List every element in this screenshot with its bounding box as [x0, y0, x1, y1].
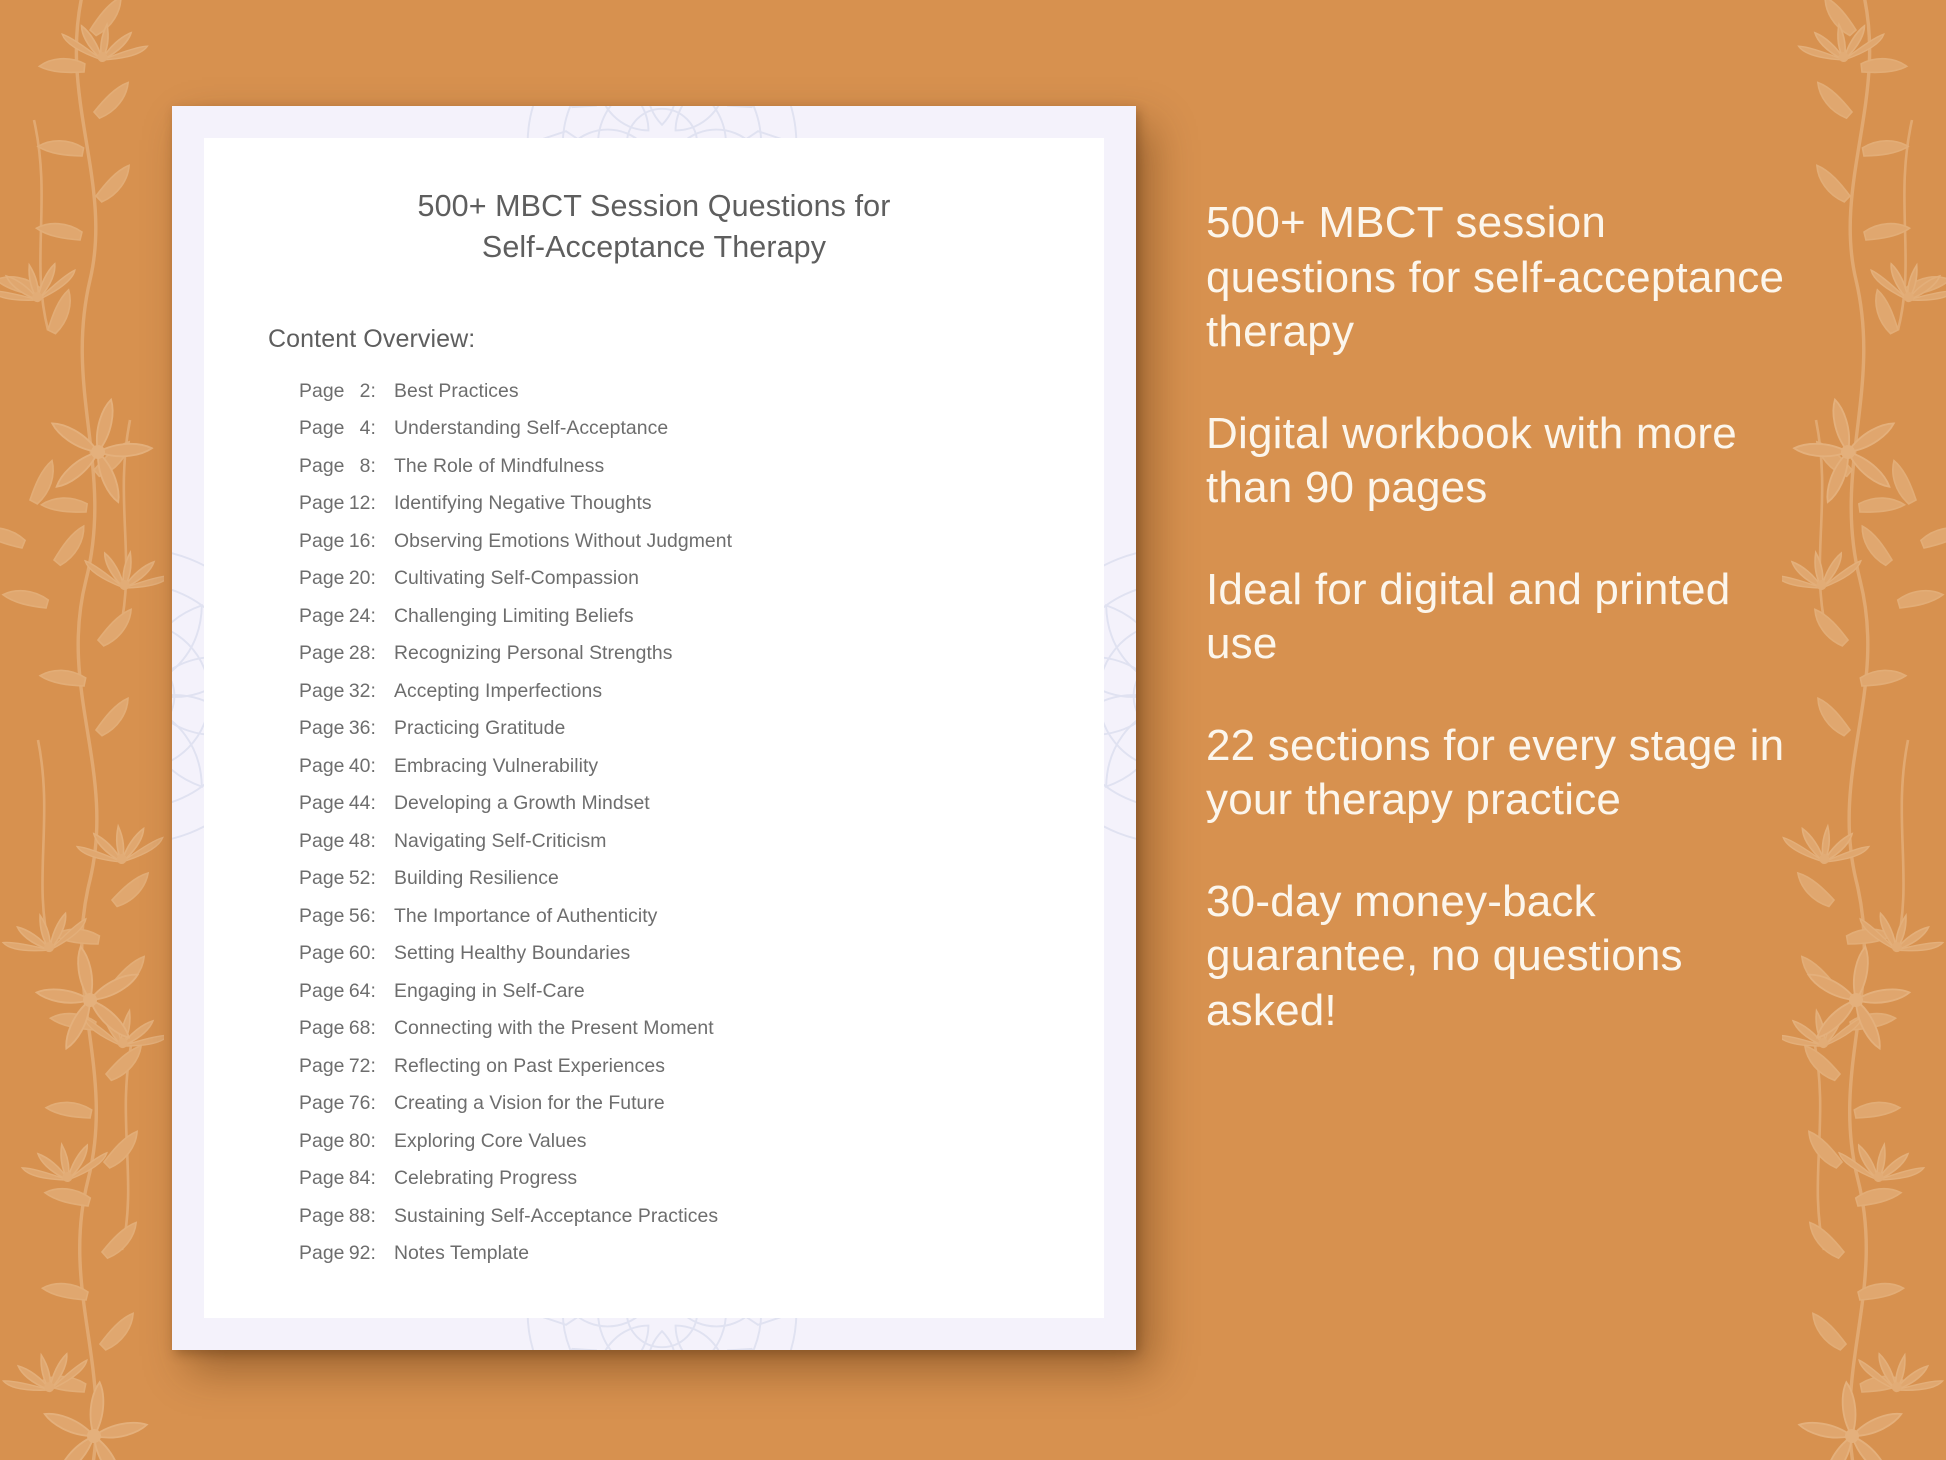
toc-colon: : [371, 717, 376, 739]
toc-entry-title: Understanding Self-Acceptance [394, 419, 668, 438]
toc-row[interactable]: Page24:Challenging Limiting Beliefs [299, 607, 1104, 626]
toc-colon: : [371, 905, 376, 927]
toc-page-number: 52 [345, 869, 371, 888]
toc-page-number: 2 [345, 382, 371, 401]
toc-page-number: 16 [345, 532, 371, 551]
toc-page-prefix: Page [299, 605, 345, 627]
toc-entry-title: Engaging in Self-Care [394, 982, 585, 1001]
toc-page-number: 64 [345, 982, 371, 1001]
toc-entry-title: Notes Template [394, 1244, 529, 1263]
toc-row[interactable]: Page60:Setting Healthy Boundaries [299, 944, 1104, 963]
toc-row[interactable]: Page28:Recognizing Personal Strengths [299, 644, 1104, 663]
toc-row[interactable]: Page72:Reflecting on Past Experiences [299, 1057, 1104, 1076]
toc-page-label: Page4: [299, 419, 383, 438]
marketing-block: 500+ MBCT session questions for self-acc… [1206, 196, 1786, 360]
toc-page-label: Page36: [299, 719, 383, 738]
toc-page-prefix: Page [299, 1205, 345, 1227]
toc-entry-title: The Importance of Authenticity [394, 907, 657, 926]
marketing-block: Ideal for digital and printed use [1206, 563, 1786, 672]
toc-page-label: Page32: [299, 682, 383, 701]
toc-page-label: Page60: [299, 944, 383, 963]
toc-page-prefix: Page [299, 567, 345, 589]
toc-page-number: 80 [345, 1132, 371, 1151]
toc-page-label: Page24: [299, 607, 383, 626]
toc-entry-title: Exploring Core Values [394, 1132, 587, 1151]
toc-page-number: 4 [345, 419, 371, 438]
toc-page-number: 44 [345, 794, 371, 813]
toc-page-prefix: Page [299, 1055, 345, 1077]
toc-colon: : [371, 792, 376, 814]
toc-row[interactable]: Page64:Engaging in Self-Care [299, 982, 1104, 1001]
toc-page-number: 32 [345, 682, 371, 701]
toc-page-prefix: Page [299, 1017, 345, 1039]
toc-row[interactable]: Page88:Sustaining Self-Acceptance Practi… [299, 1207, 1104, 1226]
toc-colon: : [371, 530, 376, 552]
toc-page-label: Page52: [299, 869, 383, 888]
toc-page-prefix: Page [299, 867, 345, 889]
toc-page-number: 56 [345, 907, 371, 926]
toc-page-number: 68 [345, 1019, 371, 1038]
toc-page-prefix: Page [299, 1242, 345, 1264]
toc-page-number: 84 [345, 1169, 371, 1188]
toc-page-label: Page92: [299, 1244, 383, 1263]
toc-entry-title: Practicing Gratitude [394, 719, 565, 738]
toc-page-prefix: Page [299, 980, 345, 1002]
toc-page-prefix: Page [299, 492, 345, 514]
toc-colon: : [371, 605, 376, 627]
toc-entry-title: Embracing Vulnerability [394, 757, 598, 776]
toc-page-label: Page84: [299, 1169, 383, 1188]
toc-page-number: 76 [345, 1094, 371, 1113]
toc-entry-title: Celebrating Progress [394, 1169, 577, 1188]
toc-page-number: 36 [345, 719, 371, 738]
toc-colon: : [371, 380, 376, 402]
toc-row[interactable]: Page44:Developing a Growth Mindset [299, 794, 1104, 813]
marketing-block: 22 sections for every stage in your ther… [1206, 719, 1786, 828]
toc-entry-title: Creating a Vision for the Future [394, 1094, 665, 1113]
document-sheet: 500+ MBCT Session Questions for Self-Acc… [204, 138, 1104, 1318]
toc-page-prefix: Page [299, 380, 345, 402]
toc-row[interactable]: Page2:Best Practices [299, 382, 1104, 401]
toc-page-number: 92 [345, 1244, 371, 1263]
toc-row[interactable]: Page92:Notes Template [299, 1244, 1104, 1263]
toc-colon: : [371, 567, 376, 589]
toc-page-label: Page40: [299, 757, 383, 776]
toc-page-prefix: Page [299, 1130, 345, 1152]
toc-page-number: 12 [345, 494, 371, 513]
toc-page-number: 8 [345, 457, 371, 476]
toc-page-number: 60 [345, 944, 371, 963]
toc-page-label: Page2: [299, 382, 383, 401]
toc-entry-title: Recognizing Personal Strengths [394, 644, 673, 663]
toc-colon: : [371, 1017, 376, 1039]
toc-row[interactable]: Page16:Observing Emotions Without Judgme… [299, 532, 1104, 551]
toc-page-label: Page80: [299, 1132, 383, 1151]
toc-page-label: Page56: [299, 907, 383, 926]
toc-page-number: 24 [345, 607, 371, 626]
toc-entry-title: Reflecting on Past Experiences [394, 1057, 665, 1076]
toc-colon: : [371, 942, 376, 964]
document-preview: 500+ MBCT Session Questions for Self-Acc… [172, 106, 1136, 1350]
toc-page-label: Page88: [299, 1207, 383, 1226]
toc-page-prefix: Page [299, 642, 345, 664]
toc-page-label: Page76: [299, 1094, 383, 1113]
document-title-line-2: Self-Acceptance Therapy [482, 230, 826, 264]
toc-row[interactable]: Page80:Exploring Core Values [299, 1132, 1104, 1151]
toc-page-prefix: Page [299, 755, 345, 777]
toc-colon: : [371, 980, 376, 1002]
toc-entry-title: Cultivating Self-Compassion [394, 569, 639, 588]
marketing-block: Digital workbook with more than 90 pages [1206, 407, 1786, 516]
toc-page-number: 40 [345, 757, 371, 776]
toc-page-number: 48 [345, 832, 371, 851]
toc-colon: : [371, 455, 376, 477]
toc-page-number: 20 [345, 569, 371, 588]
toc-page-label: Page48: [299, 832, 383, 851]
toc-row[interactable]: Page20:Cultivating Self-Compassion [299, 569, 1104, 588]
toc-page-prefix: Page [299, 942, 345, 964]
toc-page-prefix: Page [299, 455, 345, 477]
floral-border-left-icon [0, 0, 164, 1460]
toc-colon: : [371, 1130, 376, 1152]
toc-page-prefix: Page [299, 792, 345, 814]
toc-row[interactable]: Page8:The Role of Mindfulness [299, 457, 1104, 476]
toc-entry-title: Identifying Negative Thoughts [394, 494, 652, 513]
toc-page-label: Page20: [299, 569, 383, 588]
document-title-line-1: 500+ MBCT Session Questions for [418, 189, 891, 223]
toc-colon: : [371, 417, 376, 439]
toc-page-label: Page12: [299, 494, 383, 513]
toc-page-prefix: Page [299, 905, 345, 927]
toc-entry-title: The Role of Mindfulness [394, 457, 604, 476]
toc-row[interactable]: Page40:Embracing Vulnerability [299, 757, 1104, 776]
toc-colon: : [371, 492, 376, 514]
toc-row[interactable]: Page48:Navigating Self-Criticism [299, 832, 1104, 851]
toc-page-label: Page44: [299, 794, 383, 813]
page-frame: 500+ MBCT Session Questions for Self-Acc… [172, 106, 1136, 1350]
toc-entry-title: Developing a Growth Mindset [394, 794, 650, 813]
toc-entry-title: Challenging Limiting Beliefs [394, 607, 634, 626]
toc-colon: : [371, 830, 376, 852]
toc-entry-title: Navigating Self-Criticism [394, 832, 606, 851]
toc-page-label: Page28: [299, 644, 383, 663]
toc-row[interactable]: Page76:Creating a Vision for the Future [299, 1094, 1104, 1113]
toc-entry-title: Best Practices [394, 382, 519, 401]
floral-border-right-icon [1782, 0, 1946, 1460]
toc-colon: : [371, 1055, 376, 1077]
toc-entry-title: Observing Emotions Without Judgment [394, 532, 732, 551]
toc-page-prefix: Page [299, 530, 345, 552]
toc-row[interactable]: Page12:Identifying Negative Thoughts [299, 494, 1104, 513]
toc-page-prefix: Page [299, 417, 345, 439]
toc-row[interactable]: Page84:Celebrating Progress [299, 1169, 1104, 1188]
toc-page-label: Page68: [299, 1019, 383, 1038]
toc-page-prefix: Page [299, 830, 345, 852]
toc-colon: : [371, 1167, 376, 1189]
content-overview-label: Content Overview: [268, 325, 1104, 354]
toc-row[interactable]: Page52:Building Resilience [299, 869, 1104, 888]
toc-page-number: 28 [345, 644, 371, 663]
toc-page-prefix: Page [299, 680, 345, 702]
toc-colon: : [371, 642, 376, 664]
toc-row[interactable]: Page4:Understanding Self-Acceptance [299, 419, 1104, 438]
toc-page-number: 72 [345, 1057, 371, 1076]
toc-colon: : [371, 1092, 376, 1114]
toc-entry-title: Accepting Imperfections [394, 682, 602, 701]
toc-colon: : [371, 867, 376, 889]
toc-entry-title: Setting Healthy Boundaries [394, 944, 630, 963]
toc-row[interactable]: Page56:The Importance of Authenticity [299, 907, 1104, 926]
toc-entry-title: Connecting with the Present Moment [394, 1019, 714, 1038]
toc-entry-title: Building Resilience [394, 869, 559, 888]
toc-page-label: Page16: [299, 532, 383, 551]
toc-page-number: 88 [345, 1207, 371, 1226]
toc-page-label: Page8: [299, 457, 383, 476]
toc-row[interactable]: Page68:Connecting with the Present Momen… [299, 1019, 1104, 1038]
toc-page-prefix: Page [299, 1092, 345, 1114]
toc-row[interactable]: Page32:Accepting Imperfections [299, 682, 1104, 701]
toc-colon: : [371, 680, 376, 702]
marketing-block: 30-day money-back guarantee, no question… [1206, 875, 1786, 1039]
marketing-copy: 500+ MBCT session questions for self-acc… [1206, 196, 1786, 1039]
toc-page-label: Page64: [299, 982, 383, 1001]
toc-page-prefix: Page [299, 717, 345, 739]
table-of-contents: Page2:Best PracticesPage4:Understanding … [299, 382, 1104, 1264]
toc-colon: : [371, 1205, 376, 1227]
promo-graphic: 500+ MBCT Session Questions for Self-Acc… [0, 0, 1946, 1460]
toc-row[interactable]: Page36:Practicing Gratitude [299, 719, 1104, 738]
toc-entry-title: Sustaining Self-Acceptance Practices [394, 1207, 718, 1226]
toc-colon: : [371, 1242, 376, 1264]
toc-page-prefix: Page [299, 1167, 345, 1189]
toc-colon: : [371, 755, 376, 777]
document-title: 500+ MBCT Session Questions for Self-Acc… [204, 186, 1104, 269]
toc-page-label: Page72: [299, 1057, 383, 1076]
